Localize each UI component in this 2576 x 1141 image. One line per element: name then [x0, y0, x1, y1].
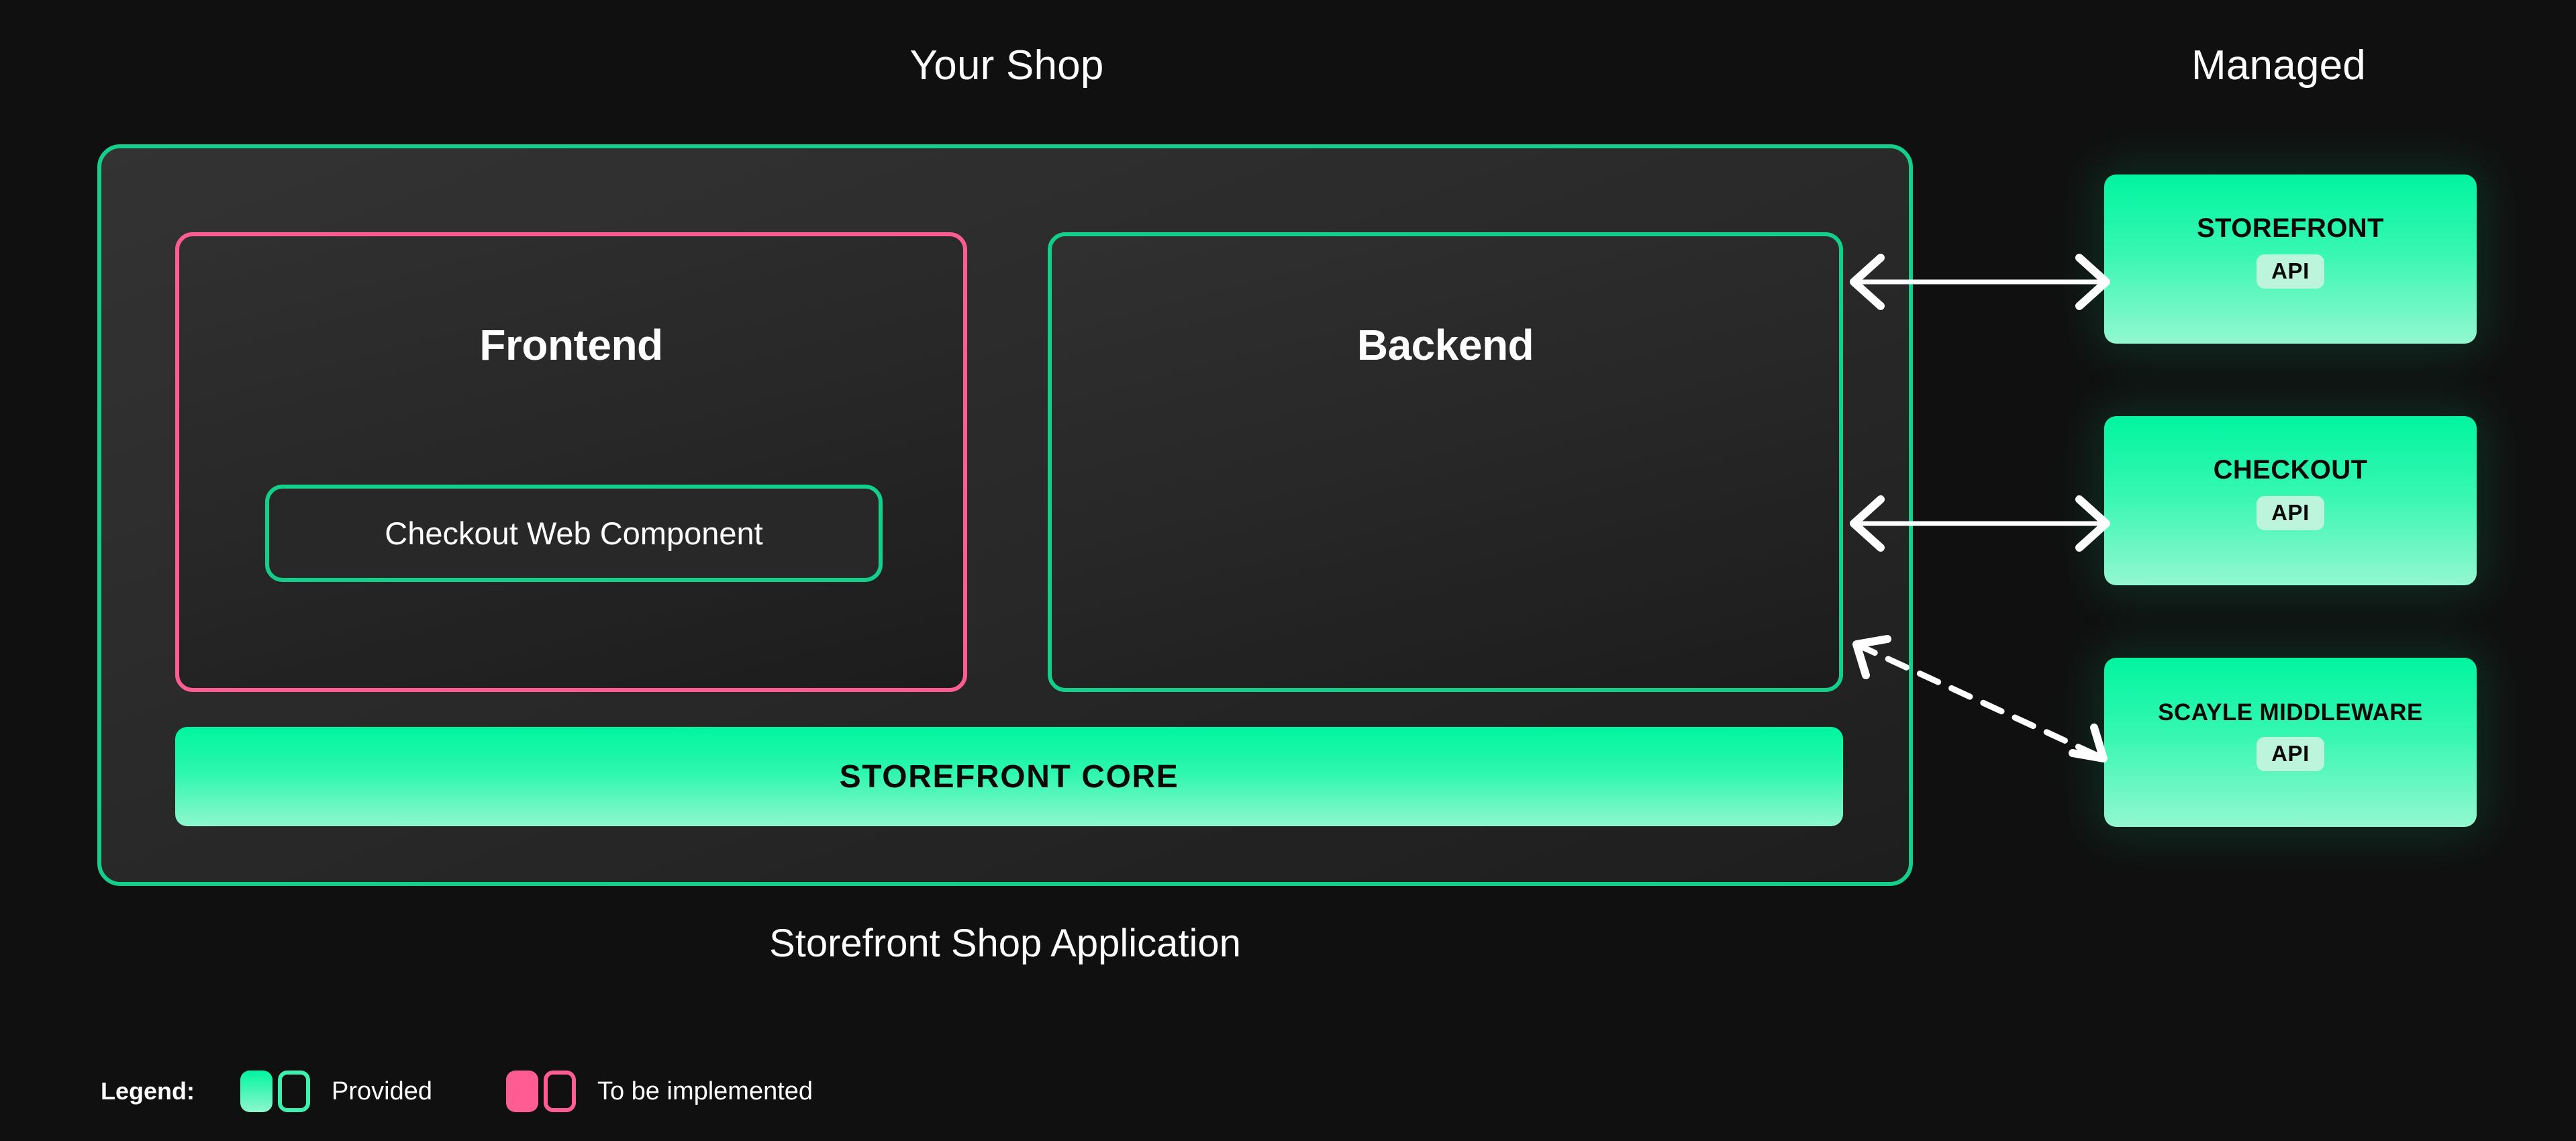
legend-swatch-outline-pink — [544, 1071, 576, 1112]
diagram-canvas: Your Shop Managed Frontend Checkout Web … — [0, 0, 2576, 1141]
your-shop-heading: Your Shop — [101, 42, 1913, 89]
managed-card-scayle-middleware: SCAYLE MIDDLEWARE API — [2104, 658, 2477, 827]
legend-swatch-filled-green — [240, 1071, 273, 1112]
legend-swatch-outline-green — [278, 1071, 310, 1112]
storefront-shop-application-container: Frontend Checkout Web Component Backend … — [97, 144, 1913, 886]
legend-text-provided: Provided — [332, 1077, 432, 1106]
checkout-web-component-label: Checkout Web Component — [385, 515, 762, 552]
storefront-core-bar: STOREFRONT CORE — [175, 727, 1843, 826]
checkout-web-component-box: Checkout Web Component — [265, 485, 883, 582]
legend-label: Legend: — [101, 1077, 195, 1105]
legend-entry-provided: Provided — [240, 1071, 432, 1112]
frontend-panel: Frontend Checkout Web Component — [175, 232, 967, 692]
legend-swatch-filled-pink — [506, 1071, 538, 1112]
storefront-core-label: STOREFRONT CORE — [840, 758, 1179, 795]
legend: Legend: Provided To be implemented — [101, 1067, 813, 1115]
managed-card-checkout-api-badge: API — [2257, 496, 2324, 530]
managed-card-storefront: STOREFRONT API — [2104, 175, 2477, 344]
managed-card-storefront-api-badge: API — [2257, 254, 2324, 289]
managed-card-scayle-middleware-api-badge: API — [2257, 737, 2324, 771]
frontend-panel-title: Frontend — [179, 320, 963, 370]
backend-panel: Backend — [1048, 232, 1843, 692]
managed-card-checkout-title: CHECKOUT — [2214, 455, 2368, 485]
managed-heading: Managed — [2104, 42, 2453, 89]
backend-panel-title: Backend — [1052, 320, 1839, 370]
managed-card-checkout: CHECKOUT API — [2104, 416, 2477, 585]
managed-card-storefront-title: STOREFRONT — [2197, 213, 2384, 244]
legend-entry-to-be-implemented: To be implemented — [506, 1071, 813, 1112]
legend-text-to-be-implemented: To be implemented — [597, 1077, 813, 1106]
storefront-shop-application-caption: Storefront Shop Application — [97, 921, 1913, 966]
managed-card-scayle-middleware-title: SCAYLE MIDDLEWARE — [2158, 699, 2422, 726]
